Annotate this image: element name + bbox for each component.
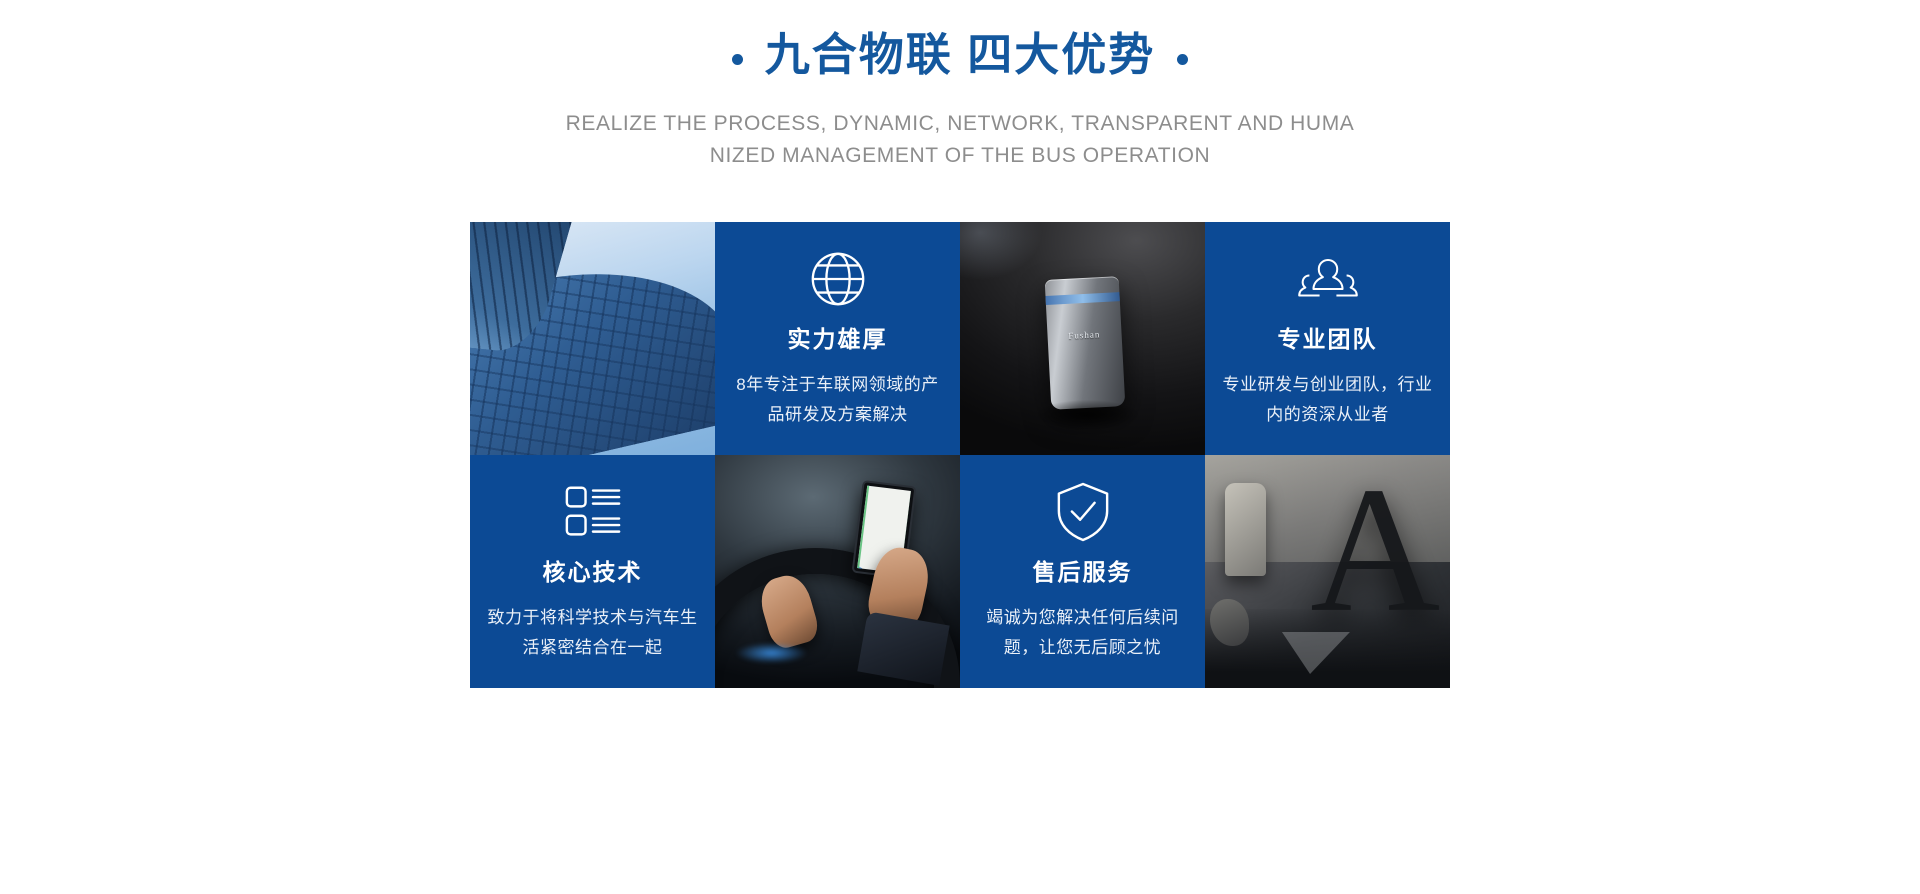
interior-vase (1225, 483, 1267, 576)
advantage-title: 专业团队 (1278, 324, 1378, 354)
advantages-section: 九合物联 四大优势 REALIZE THE PROCESS, DYNAMIC, … (0, 0, 1920, 894)
team-icon (1297, 248, 1359, 310)
floor-reflection (1276, 632, 1350, 674)
advantage-card-core-tech[interactable]: 核心技术 致力于将科学技术与汽车生活紧密结合在一起 (470, 455, 715, 688)
device-led-strip (1046, 292, 1120, 305)
section-header: 九合物联 四大优势 REALIZE THE PROCESS, DYNAMIC, … (0, 0, 1920, 172)
advantage-description: 专业研发与创业团队，行业内的资深从业者 (1219, 370, 1436, 430)
photo-driving-phone (715, 455, 960, 688)
globe-icon (807, 248, 869, 310)
section-subtitle: REALIZE THE PROCESS, DYNAMIC, NETWORK, T… (0, 108, 1920, 172)
title-dot-left-icon (732, 54, 743, 65)
title-dot-right-icon (1177, 54, 1188, 65)
advantage-title: 核心技术 (543, 557, 643, 587)
page-title-row: 九合物联 四大优势 (0, 24, 1920, 86)
list-icon (562, 481, 624, 543)
page-title: 九合物联 四大优势 (765, 24, 1156, 86)
advantage-card-strength[interactable]: 实力雄厚 8年专注于车联网领域的产品研发及方案解决 (715, 222, 960, 455)
advantage-card-team[interactable]: 专业团队 专业研发与创业团队，行业内的资深从业者 (1205, 222, 1450, 455)
subtitle-line-2: NIZED MANAGEMENT OF THE BUS OPERATION (0, 140, 1920, 172)
photo-car-device: Fushan (960, 222, 1205, 455)
advantage-description: 竭诚为您解决任何后续问题，让您无后顾之忧 (974, 603, 1191, 663)
device-shadow (1014, 394, 1161, 436)
dashboard-led (730, 641, 813, 664)
device-brand-label: Fushan (1048, 328, 1122, 342)
photo-interior-letter-a: A (1205, 455, 1450, 688)
device-body: Fushan (1045, 276, 1125, 410)
advantage-title: 售后服务 (1033, 557, 1133, 587)
advantages-grid-wrapper: 实力雄厚 8年专注于车联网领域的产品研发及方案解决 Fushan (470, 222, 1450, 688)
advantage-description: 8年专注于车联网领域的产品研发及方案解决 (729, 370, 946, 430)
photo-glass-skyscraper (470, 222, 715, 455)
shield-check-icon (1052, 481, 1114, 543)
advantage-description: 致力于将科学技术与汽车生活紧密结合在一起 (484, 603, 701, 663)
advantages-grid: 实力雄厚 8年专注于车联网领域的产品研发及方案解决 Fushan (470, 222, 1450, 688)
advantage-title: 实力雄厚 (788, 324, 888, 354)
advantage-card-after-sales[interactable]: 售后服务 竭诚为您解决任何后续问题，让您无后顾之忧 (960, 455, 1205, 688)
subtitle-line-1: REALIZE THE PROCESS, DYNAMIC, NETWORK, T… (0, 108, 1920, 140)
